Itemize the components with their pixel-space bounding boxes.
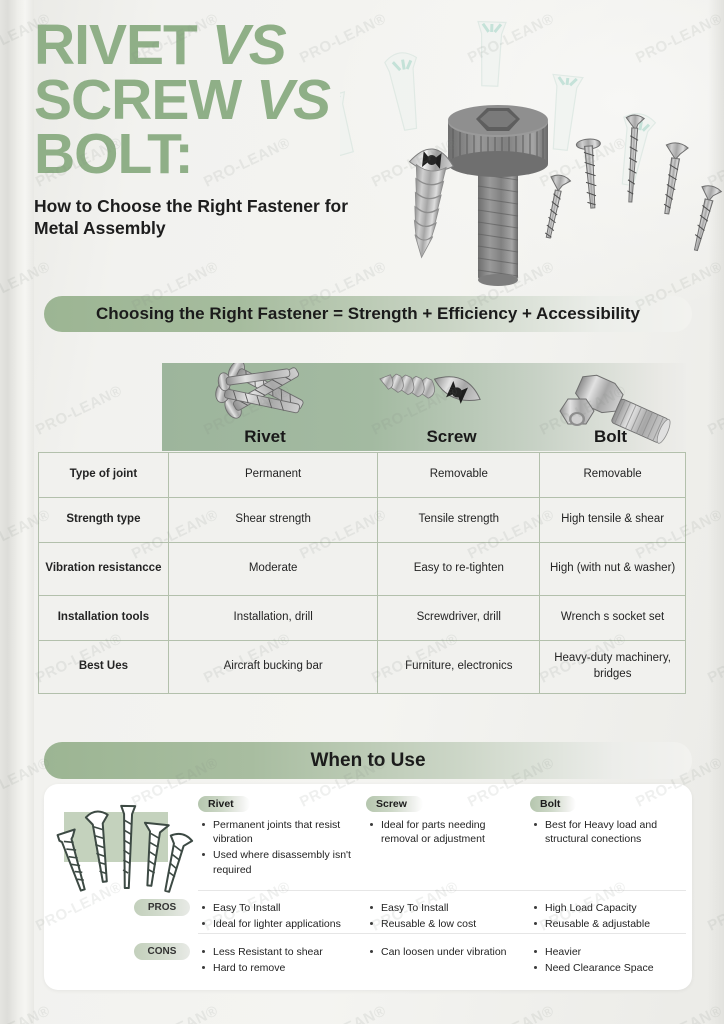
usecol-screw: Screw Ideal for parts needing removal or… — [366, 794, 520, 848]
brand-watermark: PRO-LEAN® — [705, 630, 724, 686]
list-item: Need Clearance Space — [543, 961, 690, 975]
key-formula-banner: Choosing the Right Fastener = Strength +… — [44, 296, 692, 332]
table-row: Strength type Shear strength Tensile str… — [39, 498, 686, 543]
cons-rivet-list: Less Resistant to shear Hard to remove — [198, 945, 358, 975]
cell-bolt: High (with nut & washer) — [540, 543, 686, 596]
hero-fasteners-illustration — [340, 0, 724, 292]
row-label: Type of joint — [39, 453, 169, 498]
pros-bolt: High Load Capacity Reusable & adjustable — [530, 895, 690, 933]
cell-screw: Screwdriver, drill — [378, 596, 540, 641]
list-item: Reusable & adjustable — [543, 917, 690, 931]
list-item: Ideal for parts needing removal or adjus… — [379, 818, 520, 846]
pros-screw-list: Easy To Install Reusable & low cost — [366, 901, 522, 931]
cons-rivet: Less Resistant to shear Hard to remove — [198, 939, 358, 977]
cell-screw: Removable — [378, 453, 540, 498]
list-item: Reusable & low cost — [379, 917, 522, 931]
usecol-bolt-label: Bolt — [530, 796, 576, 812]
cons-bolt: Heavier Need Clearance Space — [530, 939, 690, 977]
table-row: Vibration resistancce Moderate Easy to r… — [39, 543, 686, 596]
pros-rivet: Easy To Install Ideal for lighter applic… — [198, 895, 358, 933]
row-label: Best Ues — [39, 641, 169, 694]
cons-screw-list: Can loosen under vibration — [366, 945, 522, 959]
list-item: High Load Capacity — [543, 901, 690, 915]
table-row: Installation tools Installation, drill S… — [39, 596, 686, 641]
cell-bolt: Wrench s socket set — [540, 596, 686, 641]
page-title: RIVET VS SCREW VS BOLT: — [34, 18, 394, 182]
brand-watermark: PRO-LEAN® — [297, 1002, 389, 1024]
usecol-screw-list: Ideal for parts needing removal or adjus… — [366, 818, 520, 846]
cons-screw: Can loosen under vibration — [366, 939, 522, 961]
usecol-screw-label: Screw — [366, 796, 423, 812]
screws-lineart-icon — [50, 790, 196, 906]
cell-rivet: Shear strength — [168, 498, 378, 543]
cell-screw: Tensile strength — [378, 498, 540, 543]
brand-watermark: PRO-LEAN® — [0, 1002, 53, 1024]
infographic-page: RIVET VS SCREW VS BOLT: How to Choose th… — [0, 0, 724, 1024]
list-item: Easy To Install — [379, 901, 522, 915]
divider-above-pros — [198, 890, 686, 891]
column-header-rivet: Rivet — [162, 427, 368, 447]
list-item: Heavier — [543, 945, 690, 959]
usecol-rivet: Rivet Permanent joints that resist vibra… — [198, 794, 356, 879]
usecol-bolt: Bolt Best for Heavy load and structural … — [530, 794, 686, 848]
brand-watermark: PRO-LEAN® — [705, 878, 724, 934]
comparison-table-header: Rivet Screw Bolt — [162, 363, 686, 451]
list-item: Used where disassembly isn't required — [211, 848, 356, 876]
table-row: Type of joint Permanent Removable Remova… — [39, 453, 686, 498]
list-item: Can loosen under vibration — [379, 945, 522, 959]
cell-bolt: High tensile & shear — [540, 498, 686, 543]
cell-rivet: Moderate — [168, 543, 378, 596]
row-label: Vibration resistancce — [39, 543, 169, 596]
cons-bolt-list: Heavier Need Clearance Space — [530, 945, 690, 975]
when-to-use-title: When to Use — [310, 750, 425, 772]
brand-watermark: PRO-LEAN® — [129, 1002, 221, 1024]
brand-watermark: PRO-LEAN® — [705, 382, 724, 438]
list-item: Easy To Install — [211, 901, 358, 915]
cons-badge: CONS — [134, 943, 190, 960]
usecol-rivet-list: Permanent joints that resist vibration U… — [198, 818, 356, 877]
list-item: Permanent joints that resist vibration — [211, 818, 356, 846]
pros-screw: Easy To Install Reusable & low cost — [366, 895, 522, 933]
usecol-bolt-list: Best for Heavy load and structural conec… — [530, 818, 686, 846]
list-item: Hard to remove — [211, 961, 358, 975]
list-item: Best for Heavy load and structural conec… — [543, 818, 686, 846]
cell-screw: Easy to re-tighten — [378, 543, 540, 596]
when-to-use-banner: When to Use — [44, 742, 692, 779]
pros-badge: PROS — [134, 899, 190, 916]
pros-bolt-list: High Load Capacity Reusable & adjustable — [530, 901, 690, 931]
brand-watermark: PRO-LEAN® — [465, 1002, 557, 1024]
cell-bolt: Heavy-duty machinery, bridges — [540, 641, 686, 694]
usecol-rivet-label: Rivet — [198, 796, 250, 812]
list-item: Ideal for lighter applications — [211, 917, 358, 931]
column-header-screw: Screw — [368, 427, 535, 447]
when-to-use-card: Rivet Permanent joints that resist vibra… — [44, 784, 692, 990]
title-line-2-italic: VS — [256, 68, 330, 132]
column-header-bolt: Bolt — [535, 427, 686, 447]
cell-rivet: Permanent — [168, 453, 378, 498]
comparison-table: Type of joint Permanent Removable Remova… — [38, 452, 686, 694]
brand-watermark: PRO-LEAN® — [33, 382, 125, 438]
row-label: Strength type — [39, 498, 169, 543]
page-curl-shadow — [0, 0, 34, 1024]
key-formula-text: Choosing the Right Fastener = Strength +… — [96, 304, 640, 324]
table-row: Best Ues Aircraft bucking bar Furniture,… — [39, 641, 686, 694]
cell-screw: Furniture, electronics — [378, 641, 540, 694]
cell-rivet: Installation, drill — [168, 596, 378, 641]
title-block: RIVET VS SCREW VS BOLT: How to Choose th… — [34, 18, 394, 240]
row-label: Installation tools — [39, 596, 169, 641]
title-line-3: BOLT: — [34, 122, 193, 186]
list-item: Less Resistant to shear — [211, 945, 358, 959]
cell-rivet: Aircraft bucking bar — [168, 641, 378, 694]
page-subtitle: How to Choose the Right Fastener for Met… — [34, 196, 386, 240]
brand-watermark: PRO-LEAN® — [633, 1002, 724, 1024]
cell-bolt: Removable — [540, 453, 686, 498]
pros-rivet-list: Easy To Install Ideal for lighter applic… — [198, 901, 358, 931]
